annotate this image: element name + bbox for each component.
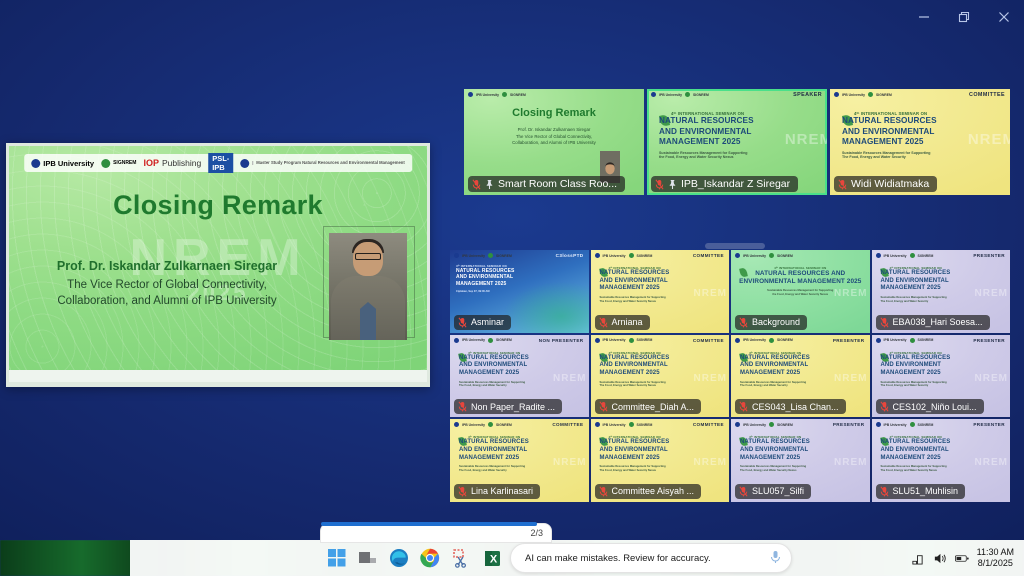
poster-logo-row: IPB UniversitySIGNREM <box>454 253 512 258</box>
tile-poster: 4ᵗʰ INTERNATIONAL SEMINAR ONNATURAL RESO… <box>842 111 937 160</box>
role-badge: PRESENTER <box>833 422 865 427</box>
poster-logo-row: IPB UniversitySIGNREM <box>454 422 512 427</box>
signrem-logo-label: SIGNREM <box>496 338 512 342</box>
slide-speaker-name: Prof. Dr. Iskandar Zulkarnaen Siregar <box>27 259 307 273</box>
poster-logo-row: IPB UniversitySIGNREM <box>876 253 934 258</box>
signrem-logo-label: SIGNREM <box>777 254 793 258</box>
tile-poster-sub: Sustainable Resources Management for Sup… <box>740 381 810 388</box>
poster-logo-row: IPB UniversitySIGNREM <box>651 92 709 97</box>
tile-poster: 4ᵗʰ INTERNATIONAL SEMINAR ONNATURAL RESO… <box>659 111 754 160</box>
participant-name: Background <box>752 317 800 327</box>
tile-poster-sub: Sustainable Resources Management for Sup… <box>881 465 951 472</box>
tile-poster-title: NATURAL RESOURCES AND ENVIRONMENTAL MANA… <box>456 268 514 287</box>
role-badge: PRESENTER <box>973 253 1005 258</box>
tile-poster: 4ᵗʰ INTERNATIONAL SEMINAR ONNATURAL RESO… <box>456 264 514 294</box>
minimize-icon[interactable] <box>904 0 944 34</box>
participant-name-bar: SLU51_Muhlisin <box>876 484 966 499</box>
tile-poster: 4ᵗʰ INTERNATIONAL SEMINAR ONNATURAL RESO… <box>881 351 951 388</box>
participant-tile[interactable]: IPB UniversitySIGNREM4ᵗʰ INTERNATIONAL S… <box>731 250 870 333</box>
role-badge: PRESENTER <box>833 338 865 343</box>
tile-poster: 4ᵗʰ INTERNATIONAL SEMINAR ONNATURAL RESO… <box>740 351 810 388</box>
slide-logo-bar: IPB University SIGNREM IOP Publishing PS… <box>24 154 412 172</box>
iop-publishing-logo: IOP Publishing <box>143 158 201 168</box>
signrem-leaf-icon <box>629 422 634 427</box>
ipb-logo-label: IPB University <box>884 338 907 342</box>
poster-logo-row: IPB UniversitySIGNREM <box>468 92 526 97</box>
poster-watermark: NREM <box>834 373 867 384</box>
signrem-leaf-icon <box>910 338 915 343</box>
ipb-logo-label: IPB University <box>603 254 626 258</box>
participant-name-bar: CES102_Niño Loui... <box>876 399 984 414</box>
tile-poster-sub: Sustainable Resources Management for Sup… <box>459 465 529 472</box>
ipb-logo-mark <box>454 422 459 427</box>
tile-poster-title: NATURAL RESOURCES AND ENVIRONMENTAL MANA… <box>881 270 951 293</box>
tile-poster-sub: Sustainable Resources Management for Sup… <box>600 381 670 388</box>
filmstrip-tile[interactable]: IPB UniversitySIGNREMClosing RemarkProf.… <box>464 89 644 195</box>
snipping-tool[interactable] <box>450 547 472 569</box>
network-icon[interactable] <box>911 551 925 565</box>
participant-name-bar: Arniana <box>595 315 650 330</box>
taskbar-left-spacer <box>130 540 322 576</box>
ipb-logo-mark <box>468 92 473 97</box>
tile-poster-sub: Sustainable Resources Management for Sup… <box>600 296 670 303</box>
participant-name-bar: Committee_Diah A... <box>595 399 702 414</box>
poster-logo-row: IPB UniversitySIGNREM <box>834 92 892 97</box>
role-badge: COMMITTEE <box>693 338 724 343</box>
poster-watermark: NREM <box>975 373 1008 384</box>
participant-name: CES102_Niño Loui... <box>893 402 977 412</box>
signrem-logo-label: SIGNREM <box>637 423 653 427</box>
tile-poster: Closing RemarkProf. Dr. Iskandar Zulkarn… <box>464 107 644 147</box>
participant-tile[interactable]: IPB UniversitySIGNREMCOMMITTEE4ᵗʰ INTERN… <box>591 335 730 418</box>
participant-tile[interactable]: IPB UniversitySIGNREMC3lossPTDIPB Univer… <box>450 250 589 333</box>
video-filmstrip: IPB UniversitySIGNREMClosing RemarkProf.… <box>464 89 1010 195</box>
powerpoint-progress-bar <box>321 522 537 526</box>
poster-watermark: NREM <box>968 131 1010 148</box>
signrem-logo-label: SIGNREM <box>918 338 934 342</box>
tile-poster-sub: Sustainable Resources Management for Sup… <box>600 465 670 472</box>
participant-tile[interactable]: IPB UniversitySIGNREMNON PRESENTER4ᵗʰ IN… <box>450 335 589 418</box>
poster-watermark: NREM <box>975 457 1008 468</box>
ipb-logo-mark <box>651 92 656 97</box>
google-chrome[interactable] <box>419 547 441 569</box>
signrem-leaf-icon <box>488 338 493 343</box>
window-titlebar <box>0 0 1024 34</box>
role-badge: COMMITTEE <box>693 253 724 258</box>
poster-watermark: NREM <box>694 457 727 468</box>
taskbar-clock[interactable]: 11:30 AM 8/1/2025 <box>977 547 1014 570</box>
filmstrip-tile[interactable]: IPB UniversitySIGNREMSPEAKER4ᵗʰ INTERNAT… <box>647 89 827 195</box>
presentation-slide: NREM 2025 IPB University SIGNREM IOP Pub… <box>9 146 427 382</box>
tile-poster: 4ᵗʰ INTERNATIONAL SEMINAR ONNATURAL RESO… <box>459 435 529 472</box>
tile-poster-sub: Ciptakan, Sep 07, 09:00 AM <box>456 290 514 294</box>
participant-name-bar: Smart Room Class Roo... <box>468 176 625 192</box>
participant-name-bar: Background <box>735 315 807 330</box>
participant-name-bar: Committee Aisyah ... <box>595 484 702 499</box>
role-badge: NON PRESENTER <box>539 338 584 343</box>
participant-video-person <box>587 446 589 502</box>
tile-poster: 4ᵗʰ INTERNATIONAL SEMINAR ONNATURAL RESO… <box>600 351 670 388</box>
signrem-logo-label: SIGNREM <box>496 254 512 258</box>
role-badge: PRESENTER <box>973 338 1005 343</box>
poster-logo-row: IPB UniversitySIGNREM <box>735 338 793 343</box>
program-logo-mark <box>240 159 249 168</box>
filmstrip-tile[interactable]: IPB UniversitySIGNREMCOMMITTEE4ᵗʰ INTERN… <box>830 89 1010 195</box>
participant-name: CES043_Lisa Chan... <box>752 402 839 412</box>
role-badge: COMMITTEE <box>552 422 583 427</box>
poster-logo-row: IPB UniversitySIGNREM <box>595 253 653 258</box>
tile-poster-title: NATURAL RESOURCES AND ENVIRONMENTAL MANA… <box>600 355 670 378</box>
participant-name: SLU057_Silfi <box>752 486 804 496</box>
program-logo-label: Master Study Program Natural Resources a… <box>252 161 404 166</box>
participant-tile[interactable]: IPB UniversitySIGNREMPRESENTER4ᵗʰ INTERN… <box>872 250 1011 333</box>
participant-name-bar: CES043_Lisa Chan... <box>735 399 846 414</box>
volume-icon[interactable] <box>933 551 947 565</box>
signrem-logo-label: SIGNREM <box>876 93 892 97</box>
signrem-logo-label: SIGNREM <box>918 254 934 258</box>
poster-watermark: NREM <box>785 131 827 148</box>
participant-name: IPB_Iskandar Z Siregar <box>681 178 790 190</box>
participant-name-bar: SLU057_Silfi <box>735 484 811 499</box>
participant-name: Non Paper_Radite ... <box>471 402 555 412</box>
ipb-logo-mark <box>735 253 740 258</box>
poster-watermark: NREM <box>834 457 867 468</box>
ipb-logo-mark <box>31 159 40 168</box>
restore-icon[interactable] <box>944 0 984 34</box>
participant-name-bar: Widi Widiatmaka <box>834 176 937 192</box>
tile-poster: 4ᵗʰ INTERNATIONAL SEMINAR ONNATURAL RESO… <box>881 266 951 303</box>
signrem-leaf-icon <box>685 92 690 97</box>
ipb-logo-label: IPB University <box>743 338 766 342</box>
tile-poster-title: NATURAL RESOURCES AND ENVIRONMENTAL MANA… <box>731 270 870 286</box>
slide-bottom-band <box>9 370 427 382</box>
participant-name-bar: IPB_Iskandar Z Siregar <box>651 176 798 192</box>
tile-poster-sub: Sustainable Resources Management for Sup… <box>740 465 810 472</box>
ipb-logo-label: IPB University <box>43 159 94 168</box>
battery-icon[interactable] <box>955 551 969 565</box>
microsoft-edge[interactable] <box>388 547 410 569</box>
signrem-leaf-icon <box>769 253 774 258</box>
tile-poster-title: NATURAL RESOURCES AND ENVIRONMENTAL MANA… <box>842 116 937 148</box>
participant-tile[interactable]: IPB UniversitySIGNREMPRESENTER4ᵗʰ INTERN… <box>731 419 870 502</box>
task-view[interactable] <box>357 547 379 569</box>
ipb-logo-label: IPB University <box>462 423 485 427</box>
ipb-logo-label: IPB University <box>743 254 766 258</box>
psl-ipb-logo: PSL-IPB <box>208 153 233 173</box>
participant-name: Lina Karlinasari <box>471 486 533 496</box>
tile-poster-title: Closing Remark <box>464 107 644 119</box>
slide-title: Closing Remark <box>9 190 427 221</box>
tile-poster: 4ᵗʰ INTERNATIONAL SEMINAR ONNATURAL RESO… <box>600 435 670 472</box>
tile-poster-title: NATURAL RESOURCES AND ENVIRONMENTAL MANA… <box>600 270 670 293</box>
signrem-leaf-icon <box>488 253 493 258</box>
participant-tile[interactable]: IPB UniversitySIGNREMPRESENTER4ᵗʰ INTERN… <box>872 419 1011 502</box>
participant-tile[interactable]: IPB UniversitySIGNREMCOMMITTEE4ᵗʰ INTERN… <box>591 250 730 333</box>
participant-name: Asminar <box>471 317 504 327</box>
tile-poster: 4ᵗʰ INTERNATIONAL SEMINAR ONNATURAL RESO… <box>600 266 670 303</box>
poster-watermark: NREM <box>834 288 867 299</box>
ipb-logo-label: IPB University <box>603 423 626 427</box>
tile-poster: 4ᵗʰ INTERNATIONAL SEMINAR ONNATURAL RESO… <box>881 435 951 472</box>
poster-logo-row: IPB UniversitySIGNREM <box>876 338 934 343</box>
slide-speaker-role: The Vice Rector of Global Connectivity, … <box>21 278 313 309</box>
gallery-drag-handle[interactable] <box>705 243 765 249</box>
ai-notice-bar: AI can make mistakes. Review for accurac… <box>510 543 792 573</box>
participant-tile[interactable]: IPB UniversitySIGNREMCOMMITTEE4ᵗʰ INTERN… <box>450 419 589 502</box>
ipb-logo-mark <box>834 92 839 97</box>
ipb-logo-mark <box>735 338 740 343</box>
participant-name-bar: EBA038_Hari Soesa... <box>876 315 990 330</box>
poster-logo-row: IPB UniversitySIGNREM <box>735 422 793 427</box>
signrem-leaf-icon <box>769 338 774 343</box>
role-badge: COMMITTEE <box>693 422 724 427</box>
ipb-logo-label: IPB University <box>884 423 907 427</box>
role-badge: COMMITTEE <box>969 92 1005 98</box>
poster-watermark: NREM <box>553 457 586 468</box>
poster-watermark: NREM <box>553 373 586 384</box>
signrem-logo-label: SIGNREM <box>777 338 793 342</box>
zoom-meeting-window: NREM 2025 IPB University SIGNREM IOP Pub… <box>0 0 1024 540</box>
signrem-leaf-icon <box>488 422 493 427</box>
tile-poster: 4ᵗʰ INTERNATIONAL SEMINAR ONNATURAL RESO… <box>740 435 810 472</box>
signrem-logo-label: SIGNREM <box>496 423 512 427</box>
participant-video-person <box>587 361 589 417</box>
tile-poster: 4ᵗʰ INTERNATIONAL SEMINAR ONNATURAL RESO… <box>459 351 529 388</box>
svg-text:X: X <box>489 553 497 565</box>
signrem-leaf-icon <box>769 422 774 427</box>
ipb-logo-mark <box>876 253 881 258</box>
tile-poster-title: NATURAL RESOURCES AND ENVIRONMENTAL MANA… <box>740 355 810 378</box>
role-badge: PRESENTER <box>973 422 1005 427</box>
poster-logo-row: IPB UniversitySIGNREM <box>595 338 653 343</box>
ipb-logo-mark <box>876 338 881 343</box>
participant-tile[interactable]: IPB UniversitySIGNREMPRESENTER4ᵗʰ INTERN… <box>731 335 870 418</box>
tile-poster-title: NATURAL RESOURCES AND ENVIRONMENTAL MANA… <box>459 439 529 462</box>
ipb-logo-mark <box>595 338 600 343</box>
ipb-logo-mark <box>454 338 459 343</box>
ipb-logo-mark <box>735 422 740 427</box>
tile-poster-title: NATURAL RESOURCES AND ENVIRONMENTAL MANA… <box>600 439 670 462</box>
ipb-logo-label: IPB University <box>462 338 485 342</box>
participant-name: Committee Aisyah ... <box>612 486 695 496</box>
ipb-university-logo: IPB University <box>31 159 94 168</box>
tile-poster-sub: Sustainable Resources Management for Sup… <box>459 381 529 388</box>
participant-tile[interactable]: IPB UniversitySIGNREMPRESENTER4ᵗʰ INTERN… <box>872 335 1011 418</box>
participant-name: Widi Widiatmaka <box>851 178 929 190</box>
tile-poster-sub: Prof. Dr. Iskandar Zulkarnaen Siregar Th… <box>464 127 644 147</box>
ipb-logo-mark <box>595 253 600 258</box>
participant-name: Committee_Diah A... <box>612 402 695 412</box>
tile-poster-title: NATURAL RESOURCES AND ENVIRONMENTAL MANA… <box>740 439 810 462</box>
poster-logo-row: IPB UniversitySIGNREM <box>454 338 512 343</box>
participant-name: Arniana <box>612 317 643 327</box>
tile-poster-title: NATURAL RESOURCES AND ENVIRONMENTAL MANA… <box>459 355 529 378</box>
microsoft-excel[interactable]: X <box>481 547 503 569</box>
participant-name-bar: Non Paper_Radite ... <box>454 399 562 414</box>
program-logo: Master Study Program Natural Resources a… <box>240 159 404 168</box>
signrem-leaf-icon <box>629 253 634 258</box>
signrem-logo-label: SIGNREM <box>510 93 526 97</box>
slide-speaker-portrait <box>329 233 407 340</box>
iop-logo-label: IOP <box>143 158 159 168</box>
ipb-logo-label: IPB University <box>842 93 865 97</box>
ipb-logo-label: IPB University <box>476 93 499 97</box>
role-badge: SPEAKER <box>793 92 822 98</box>
ipb-logo-mark <box>595 422 600 427</box>
participant-gallery-grid: IPB UniversitySIGNREMC3lossPTDIPB Univer… <box>450 250 1010 502</box>
powerpoint-slide-counter: 2/3 <box>530 528 543 538</box>
signrem-leaf-icon <box>910 422 915 427</box>
powerpoint-progress-popup: 2/3 <box>320 523 552 543</box>
signrem-leaf-icon <box>910 253 915 258</box>
system-tray: 11:30 AM 8/1/2025 <box>911 540 1020 576</box>
ipb-logo-mark <box>876 422 881 427</box>
poster-logo-row: IPB UniversitySIGNREM <box>735 253 793 258</box>
signrem-logo-label: SIGNREM <box>637 254 653 258</box>
clock-time: 11:30 AM <box>977 547 1014 558</box>
poster-watermark: NREM <box>975 288 1008 299</box>
participant-video-person <box>868 361 870 417</box>
participant-name-bar: Asminar <box>454 315 511 330</box>
participant-tile[interactable]: IPB UniversitySIGNREMCOMMITTEE4ᵗʰ INTERN… <box>591 419 730 502</box>
microphone-icon[interactable] <box>770 550 781 567</box>
ipb-logo-label: IPB University <box>462 254 485 258</box>
tile-poster-sub: Sustainable Resources Management for Sup… <box>659 151 754 161</box>
signrem-leaf-icon <box>101 159 110 168</box>
ipb-logo-label: IPB University <box>659 93 682 97</box>
participant-name: SLU51_Muhlisin <box>893 486 959 496</box>
poster-watermark: NREM <box>694 288 727 299</box>
participant-name: EBA038_Hari Soesa... <box>893 317 983 327</box>
signrem-logo-label: SIGNREM <box>918 423 934 427</box>
signrem-logo-label: SIGNREM <box>777 423 793 427</box>
ipb-logo-mark <box>454 253 459 258</box>
poster-watermark: NREM <box>694 373 727 384</box>
ipb-logo-label: IPB University <box>603 338 626 342</box>
ipb-logo-label: IPB University <box>884 254 907 258</box>
poster-logo-row: IPB UniversitySIGNREM <box>595 422 653 427</box>
signrem-leaf-icon <box>868 92 873 97</box>
iop-logo-suffix: Publishing <box>162 158 201 168</box>
role-badge: C3lossPTD <box>556 253 584 258</box>
signrem-logo-label: SIGNREM <box>693 93 709 97</box>
tile-poster-title: NATURAL RESOURCES AND ENVIRONMENTAL MANA… <box>659 116 754 148</box>
start-button[interactable] <box>326 547 348 569</box>
tile-poster-title: NATURAL RESOURCES AND ENVIRONMENTAL MANA… <box>881 439 951 462</box>
participant-name: Smart Room Class Roo... <box>498 178 617 190</box>
signrem-logo-label: SIGNREM <box>637 338 653 342</box>
poster-logo-row: IPB UniversitySIGNREM <box>876 422 934 427</box>
clock-date: 8/1/2025 <box>977 558 1014 569</box>
tile-poster-sub: Sustainable Resources Management for Sup… <box>881 296 951 303</box>
tile-poster-sub: Sustainable Resources Management for Sup… <box>881 381 951 388</box>
signrem-leaf-icon <box>502 92 507 97</box>
signrem-logo: SIGNREM <box>101 159 136 168</box>
tile-poster-title: NATURAL RESOURCES AND ENVIRONMENT MANAGE… <box>881 355 951 378</box>
ai-notice-text: AI can make mistakes. Review for accurac… <box>525 553 711 564</box>
close-icon[interactable] <box>984 0 1024 34</box>
shared-screen-panel[interactable]: NREM 2025 IPB University SIGNREM IOP Pub… <box>6 143 430 387</box>
signrem-leaf-icon <box>629 338 634 343</box>
ipb-logo-label: IPB University <box>743 423 766 427</box>
signrem-logo-label: SIGNREM <box>113 160 136 166</box>
tile-poster-sub: Sustainable Resources Management for Sup… <box>842 151 937 161</box>
participant-name-bar: Lina Karlinasari <box>454 484 540 499</box>
